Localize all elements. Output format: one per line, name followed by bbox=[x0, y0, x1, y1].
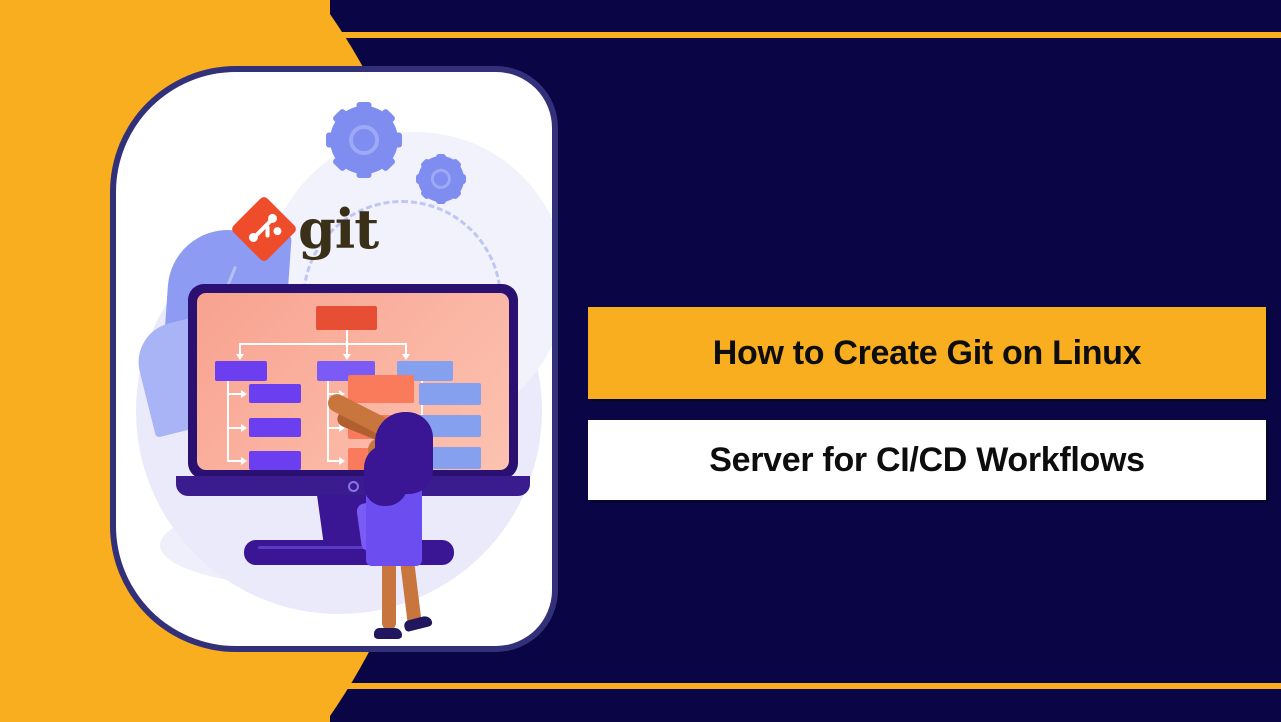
illustration: git bbox=[116, 72, 552, 646]
flow-connector bbox=[227, 427, 241, 429]
flow-connector bbox=[239, 343, 407, 345]
monitor-icon bbox=[188, 284, 518, 479]
flow-arrowhead bbox=[236, 354, 244, 360]
flow-arrowhead bbox=[402, 354, 410, 360]
gear-icon-small bbox=[418, 156, 464, 202]
person-leg bbox=[382, 560, 396, 630]
title-line-1: How to Create Git on Linux bbox=[713, 334, 1142, 373]
gear-icon bbox=[330, 106, 398, 174]
person-hair bbox=[375, 412, 433, 494]
flow-arrowhead bbox=[241, 424, 247, 432]
flow-node-l2 bbox=[215, 361, 267, 381]
flow-node-left bbox=[249, 451, 301, 470]
flow-connector bbox=[227, 393, 241, 395]
monitor-screen bbox=[197, 293, 509, 470]
title-banner-secondary: Server for CI/CD Workflows bbox=[588, 420, 1266, 500]
illustration-card: git bbox=[116, 72, 552, 646]
thumbnail-canvas: git How to Create Git on Linux Server fo… bbox=[0, 0, 1281, 722]
flow-connector bbox=[227, 460, 241, 462]
flow-node-root bbox=[316, 306, 377, 330]
title-banner-primary: How to Create Git on Linux bbox=[588, 307, 1266, 399]
flow-arrowhead bbox=[339, 457, 345, 465]
git-wordmark: git bbox=[298, 202, 378, 256]
yellow-wedge-bottom bbox=[0, 662, 330, 722]
flow-node-mid bbox=[348, 375, 414, 403]
flow-arrowhead bbox=[241, 457, 247, 465]
monitor-power-indicator bbox=[348, 481, 359, 492]
flow-connector bbox=[327, 460, 339, 462]
flow-node-left bbox=[249, 418, 301, 437]
person-shoe bbox=[374, 628, 402, 639]
flow-node-left bbox=[249, 384, 301, 403]
flow-node-right bbox=[419, 383, 481, 405]
git-logo: git bbox=[240, 202, 378, 256]
title-line-2: Server for CI/CD Workflows bbox=[709, 441, 1145, 480]
monitor-stand-base bbox=[244, 540, 454, 565]
yellow-wedge-top bbox=[0, 0, 330, 60]
flow-connector bbox=[327, 427, 339, 429]
flow-arrowhead bbox=[241, 390, 247, 398]
accent-rule-top bbox=[0, 32, 1281, 38]
git-diamond-icon bbox=[230, 195, 298, 263]
flow-arrowhead bbox=[343, 354, 351, 360]
flow-connector bbox=[346, 330, 348, 343]
accent-rule-bottom bbox=[0, 683, 1281, 689]
